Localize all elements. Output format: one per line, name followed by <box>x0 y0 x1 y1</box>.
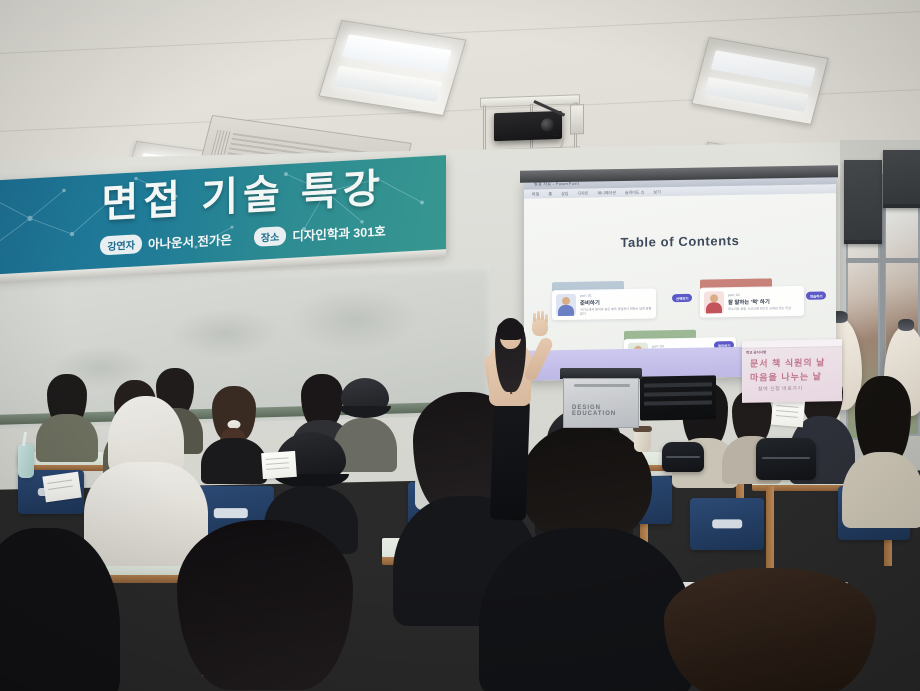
presenter-hair-front <box>497 320 524 340</box>
monitor-line-3: 참여 신청 바로가기 <box>758 385 803 393</box>
secondary-monitor: 학교 공지사항 문서 책 식원의 날 마음을 나누는 날 참여 신청 바로가기 <box>742 339 842 403</box>
toc-card: part 02 잘 말하는 '척' 하기 목소리와 표정, 시선으로 만드는 신… <box>700 286 804 318</box>
av-equipment-rack <box>640 375 716 420</box>
handout-paper[interactable] <box>261 451 297 479</box>
student-foreground <box>660 568 880 691</box>
cap-brim <box>339 406 391 418</box>
menu-item: 보기 <box>653 189 660 195</box>
coffee-cup <box>634 430 651 452</box>
toc-subtext: 자기소개서 분석과 질문 예측 면접관이 원하는 답변 방향 잡기 <box>580 306 652 316</box>
classroom-photo: 면접 기술 특강 강연자 아나운서 전가은 장소 디자인학과 301호 발표 자… <box>0 0 920 691</box>
monitor-line-1: 문서 책 식원의 날 <box>750 355 825 369</box>
chair[interactable] <box>690 498 764 550</box>
toc-chip: 선택하기 <box>672 294 692 302</box>
handout-paper[interactable] <box>42 472 81 503</box>
shoulders <box>0 528 120 691</box>
student-foreground <box>0 488 110 691</box>
toc-card: part 01 준비하기 자기소개서 분석과 질문 예측 면접관이 원하는 답변… <box>552 288 656 320</box>
menu-item: 애니메이션 <box>597 190 615 196</box>
toc-chip: 연습하기 <box>806 291 826 299</box>
presenter-hand <box>532 318 548 336</box>
slide-title: Table of Contents <box>524 231 836 251</box>
speaker-label-pill: 강연자 <box>100 234 142 255</box>
menu-item: 삽입 <box>561 190 568 196</box>
presenter <box>476 300 556 520</box>
shoulders <box>201 438 267 484</box>
drink-tumbler <box>18 444 34 478</box>
window-blind[interactable] <box>883 150 920 208</box>
lectern: DESIGN EDUCATION <box>560 368 642 428</box>
toc-subtext: 목소리와 표정, 시선으로 만드는 신뢰감 있는 인상 <box>728 306 800 312</box>
avatar <box>556 294 576 316</box>
monitor-line-2: 마음을 나누는 날 <box>750 369 822 383</box>
hair <box>177 520 353 690</box>
hair <box>855 376 911 462</box>
desk-leg <box>766 486 774 570</box>
avatar <box>704 291 724 313</box>
monitor-header: 학교 공지사항 <box>746 350 766 354</box>
menu-item: 슬라이드 쇼 <box>625 189 645 195</box>
menu-item: 디자인 <box>577 190 588 196</box>
toc-heading: 준비하기 <box>580 297 652 306</box>
hair <box>664 568 876 691</box>
student <box>846 376 920 526</box>
backpack <box>662 442 704 472</box>
place-label-pill: 장소 <box>254 226 286 247</box>
presenter-skirt <box>490 395 530 520</box>
shoulders <box>842 452 920 528</box>
handout-paper[interactable] <box>771 399 805 428</box>
menu-item: 파일 <box>532 191 539 197</box>
student <box>204 386 264 482</box>
menu-item: 홈 <box>548 191 552 197</box>
window-blind[interactable] <box>844 160 882 244</box>
toc-heading: 잘 말하는 '척' 하기 <box>728 297 800 306</box>
lectern-brand-text: DESIGN EDUCATION <box>572 405 638 417</box>
student-foreground <box>170 520 360 691</box>
backpack <box>756 438 816 480</box>
